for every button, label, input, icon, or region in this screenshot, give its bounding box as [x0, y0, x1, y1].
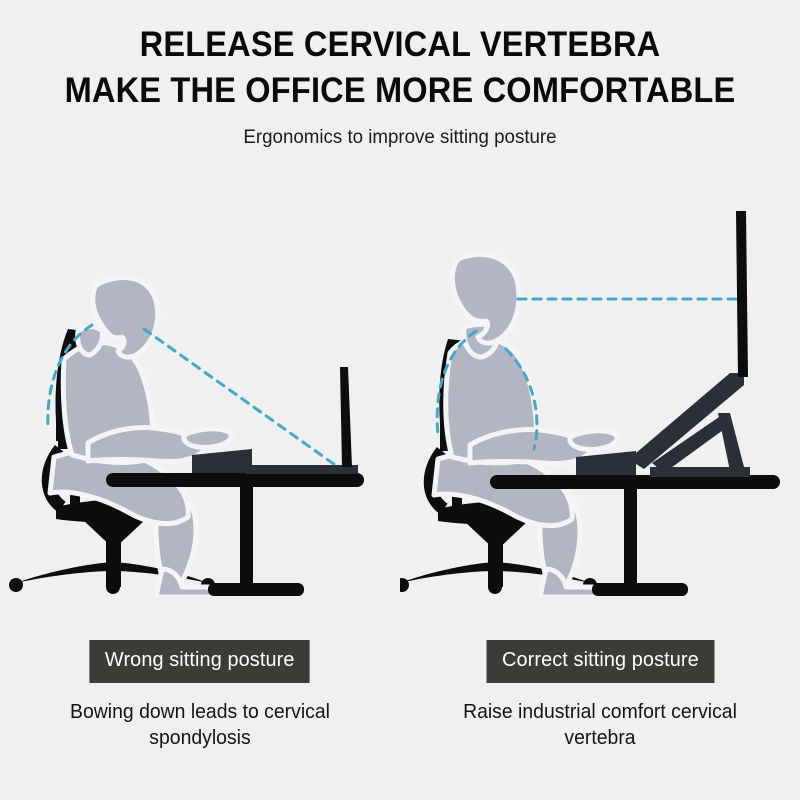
- laptop-stand-foot-icon: [650, 467, 750, 477]
- poster-header: RELEASE CERVICAL VERTEBRA MAKE THE OFFIC…: [0, 0, 800, 149]
- person-neck: [78, 327, 103, 356]
- panel-wrong-posture: [0, 177, 400, 597]
- chair-castor-icon: [106, 580, 120, 594]
- person-hunched-figure: [50, 278, 231, 597]
- chair-castor-icon: [488, 580, 502, 594]
- poster-title-line-2: MAKE THE OFFICE MORE COMFORTABLE: [28, 68, 772, 114]
- laptop-stand-assembly: [628, 373, 750, 477]
- chair-gas-cylinder-icon: [106, 537, 121, 587]
- laptop-screen-icon: [340, 367, 352, 467]
- person-hand: [570, 431, 617, 450]
- scene-wrong-posture: [0, 177, 400, 597]
- caption-col-correct: Correct sitting posture Raise industrial…: [400, 640, 800, 751]
- desk-foot: [208, 583, 304, 596]
- desk-top: [106, 473, 364, 487]
- caption-text-correct: Raise industrial comfort cervical verteb…: [406, 699, 794, 752]
- person-hand: [184, 429, 231, 448]
- desk-column: [624, 489, 637, 583]
- poster-title-line-1: RELEASE CERVICAL VERTEBRA: [28, 22, 772, 68]
- desk-foot: [592, 583, 688, 596]
- caption-col-wrong: Wrong sitting posture Bowing down leads …: [0, 640, 400, 751]
- panel-correct-posture: [400, 177, 800, 597]
- desk-column: [240, 487, 253, 583]
- badge-wrong-sitting-posture: Wrong sitting posture: [90, 640, 311, 683]
- caption-text-wrong: Bowing down leads to cervical spondylosi…: [6, 699, 394, 752]
- caption-row: Wrong sitting posture Bowing down leads …: [0, 640, 800, 800]
- badge-correct-sitting-posture: Correct sitting posture: [486, 640, 714, 683]
- poster-subtitle: Ergonomics to improve sitting posture: [16, 126, 784, 149]
- laptop-screen-raised-icon: [736, 211, 748, 377]
- desk-top: [490, 475, 780, 489]
- poster-root: RELEASE CERVICAL VERTEBRA MAKE THE OFFIC…: [0, 0, 800, 800]
- chair-castor-icon: [400, 578, 409, 592]
- person-upright-figure: [434, 255, 617, 598]
- chair-castor-icon: [9, 578, 23, 592]
- laptop-stand-leg-icon: [718, 413, 744, 471]
- scene-correct-posture: [400, 177, 800, 597]
- illustration-wrong-posture: [9, 278, 364, 597]
- laptop-keyboard-deck-icon: [246, 465, 358, 474]
- illustration-correct-posture: [400, 211, 780, 597]
